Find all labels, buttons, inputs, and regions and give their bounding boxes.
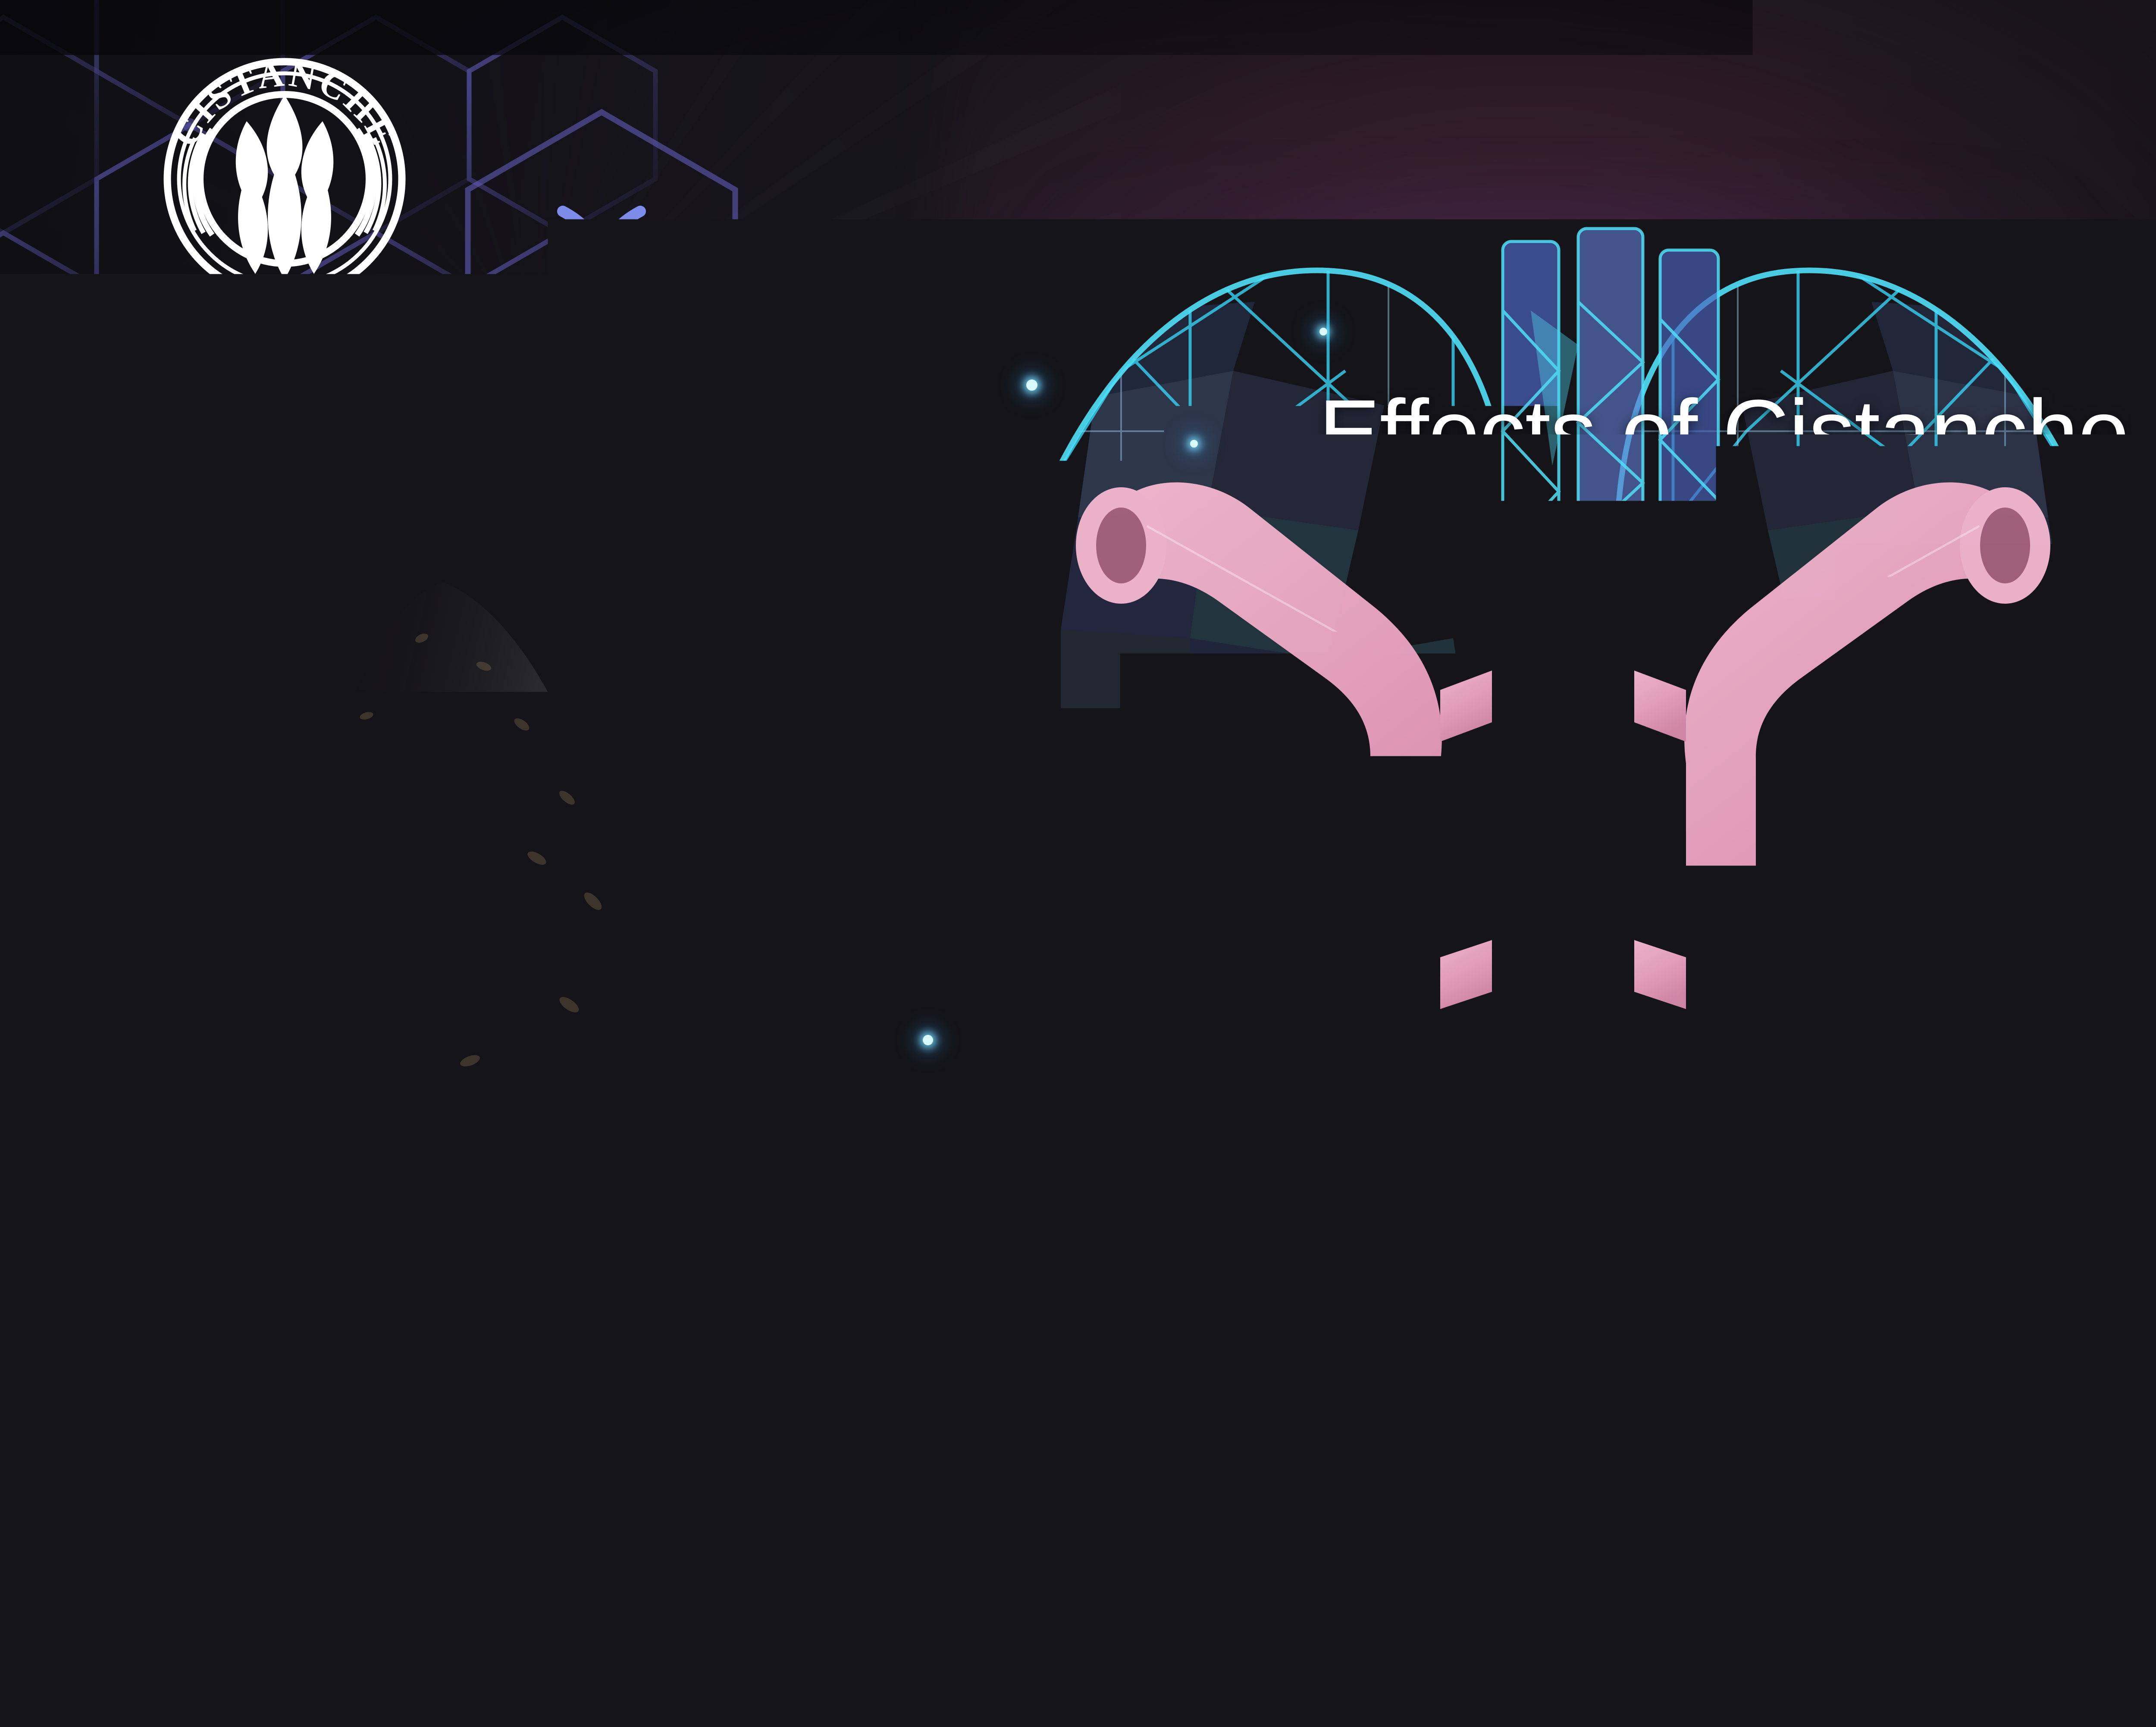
headline-block: Improve Kidney Function [0, 671, 2156, 952]
headline-line-1: Improve [0, 671, 2156, 812]
brand-logo[interactable]: CISTANCHE WECISTANCHE [129, 41, 440, 357]
sparkle-dot [1112, 1320, 1121, 1328]
logo-emblem-icon: CISTANCHE [147, 41, 423, 317]
sparkle-dot [2001, 1225, 2010, 1234]
promotional-banner: CISTANCHE WECISTANCHE Effects of Cistanc… [0, 0, 2156, 1727]
lotus-petal-group [236, 95, 334, 279]
sparkle-dot [1319, 328, 1327, 335]
sparkle-dot [1190, 440, 1198, 448]
sparkle-dot [923, 1035, 933, 1045]
sparkle-dot [1018, 1182, 1027, 1191]
sparkle-dot [1026, 379, 1037, 391]
website-url[interactable]: www.xjcistanche.com [1958, 1646, 2156, 1702]
page-title: Effects of Cistanche [1319, 379, 2129, 486]
sparkle-dot [1867, 1285, 1876, 1294]
dna-helix-icon [563, 211, 640, 323]
headline-line-2: Kidney Function [0, 812, 2156, 953]
sparkle-dot [1595, 1354, 1605, 1363]
sparkle-dot [880, 595, 889, 605]
sparkle-dot [1242, 1358, 1251, 1368]
brand-wordmark: WECISTANCHE [134, 302, 435, 370]
